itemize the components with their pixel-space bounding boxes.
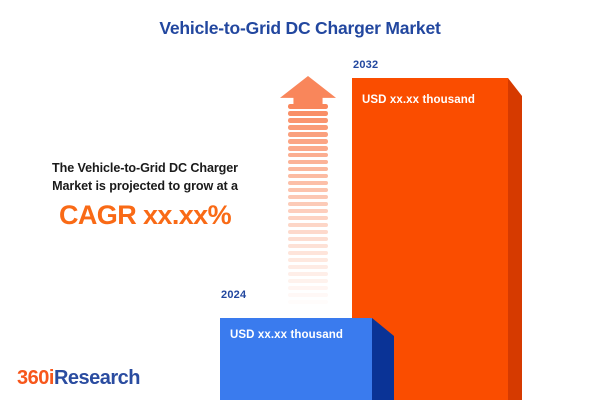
arrow-shaft-segment <box>288 174 328 179</box>
bar-2024-front-face: USD xx.xx thousand <box>220 318 372 400</box>
arrow-shaft-segment <box>288 293 328 298</box>
growth-arrow-icon <box>278 76 338 314</box>
cagr-lead-line-2: Market is projected to grow at a <box>14 178 276 196</box>
arrow-shaft-segment <box>288 286 328 291</box>
arrow-shaft-segment <box>288 265 328 270</box>
arrow-shaft-segment <box>288 202 328 207</box>
bar-2032-value-label: USD xx.xx thousand <box>362 94 475 106</box>
arrow-shaft-segment <box>288 223 328 228</box>
arrow-shaft-segment <box>288 139 328 144</box>
arrow-shaft-segment <box>288 188 328 193</box>
arrow-shaft-segment <box>288 216 328 221</box>
arrow-shaft-segment <box>288 279 328 284</box>
arrow-shaft-segment <box>288 181 328 186</box>
cagr-lead-line-1: The Vehicle-to-Grid DC Charger <box>14 160 276 178</box>
cagr-text-block: The Vehicle-to-Grid DC Charger Market is… <box>14 160 276 230</box>
bar-2024-value-label: USD xx.xx thousand <box>230 329 343 341</box>
arrow-shaft-segment <box>288 146 328 151</box>
logo: 360iResearch <box>17 367 140 390</box>
arrow-shaft-segment <box>288 307 328 312</box>
arrow-head-shape <box>280 76 336 104</box>
arrow-shaft-segment <box>288 111 328 116</box>
cagr-value: CAGR xx.xx% <box>14 200 276 230</box>
arrow-shaft-segment <box>288 118 328 123</box>
page-title: Vehicle-to-Grid DC Charger Market <box>0 18 600 39</box>
arrow-shaft-segment <box>288 251 328 256</box>
arrow-shaft-segment <box>288 244 328 249</box>
bar-2024-side-face <box>372 318 394 400</box>
arrow-shaft-segment <box>288 167 328 172</box>
infographic-canvas: Vehicle-to-Grid DC Charger Market 2032 U… <box>0 0 600 400</box>
arrow-shaft-segment <box>288 104 328 109</box>
arrow-shaft-segment <box>288 272 328 277</box>
year-label-2032: 2032 <box>353 59 378 71</box>
arrow-shaft-segment <box>288 153 328 158</box>
year-label-2024: 2024 <box>221 289 246 301</box>
arrow-shaft-segment <box>288 209 328 214</box>
arrow-head-icon <box>278 76 338 104</box>
arrow-shaft-segment <box>288 132 328 137</box>
arrow-shaft-segment <box>288 160 328 165</box>
arrow-shaft-segment <box>288 237 328 242</box>
arrow-shaft-segment <box>288 230 328 235</box>
logo-research: Research <box>54 367 140 389</box>
arrow-shaft-segment <box>288 195 328 200</box>
logo-360i: 360i <box>17 367 54 389</box>
arrow-shaft-segments <box>288 104 328 314</box>
bar-2024: USD xx.xx thousand <box>220 318 394 400</box>
arrow-shaft-segment <box>288 300 328 305</box>
arrow-shaft-segment <box>288 258 328 263</box>
bar-2032-side-face <box>508 78 522 400</box>
arrow-shaft-segment <box>288 125 328 130</box>
